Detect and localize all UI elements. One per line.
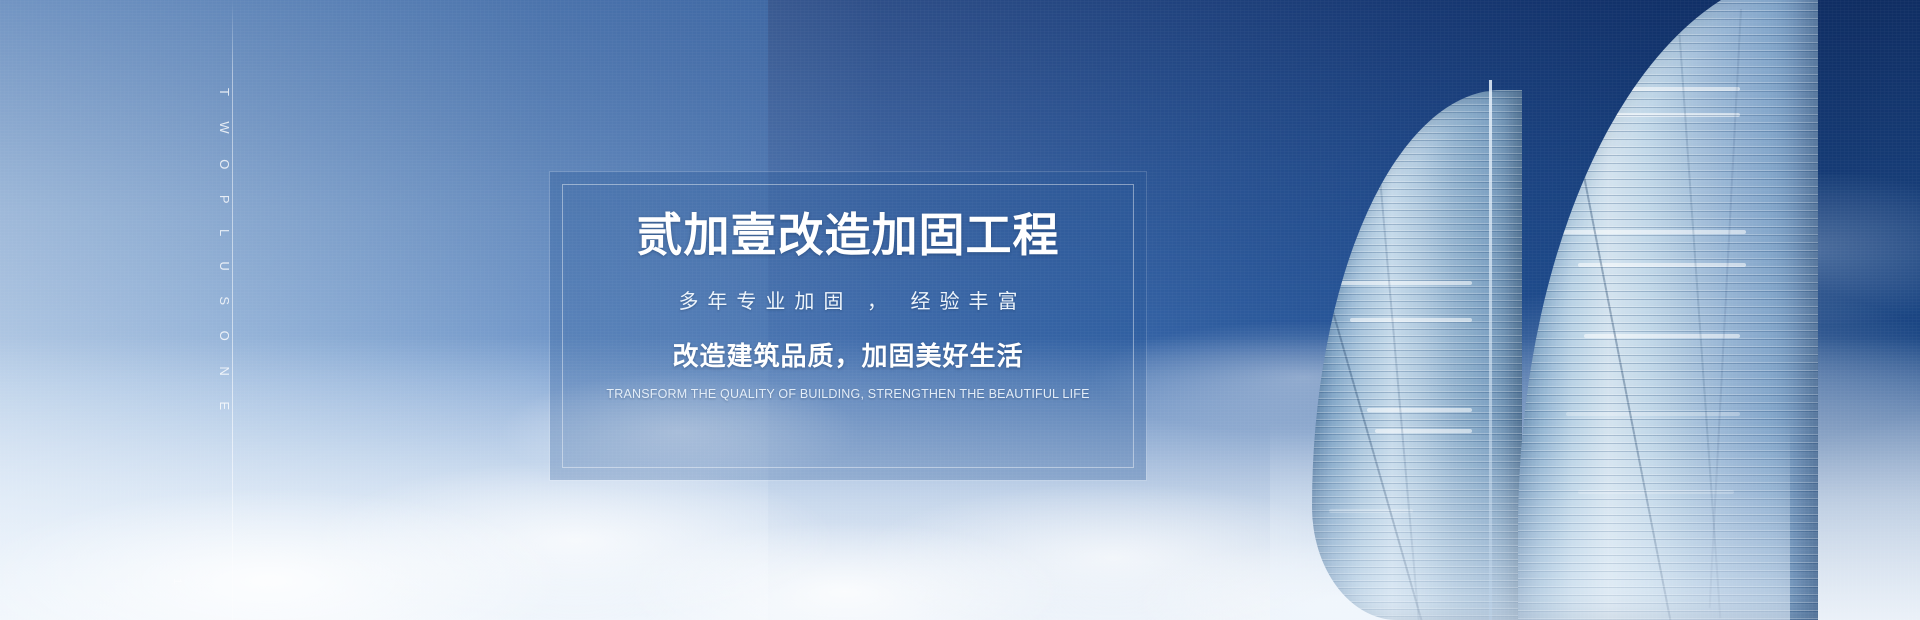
- hero-text-panel: 贰加壹改造加固工程 多年专业加固 ， 经验丰富 改造建筑品质，加固美好生活 TR…: [550, 172, 1146, 480]
- brand-corner-mark: 1: [171, 578, 183, 586]
- brand-divider-line: [232, 0, 233, 620]
- hero-subline: 多年专业加固 ， 经验丰富: [669, 285, 1026, 314]
- brand-vertical-text: T W O P L U S O N E: [217, 88, 232, 421]
- panel-content: 贰加壹改造加固工程 多年专业加固 ， 经验丰富 改造建筑品质，加固美好生活 TR…: [550, 172, 1146, 480]
- skyscraper-group: [1270, 0, 1790, 620]
- hero-headline: 贰加壹改造加固工程: [637, 210, 1060, 261]
- hero-banner: T W O P L U S O N E 1 贰加壹改造加固工程 多年专业加固 ，…: [0, 0, 1920, 620]
- hero-tagline-english: TRANSFORM THE QUALITY OF BUILDING, STREN…: [606, 387, 1089, 401]
- hero-tagline-chinese: 改造建筑品质，加固美好生活: [672, 336, 1023, 373]
- tower-bottom-haze: [1270, 422, 1790, 620]
- tower-gap-highlight: [1489, 80, 1492, 620]
